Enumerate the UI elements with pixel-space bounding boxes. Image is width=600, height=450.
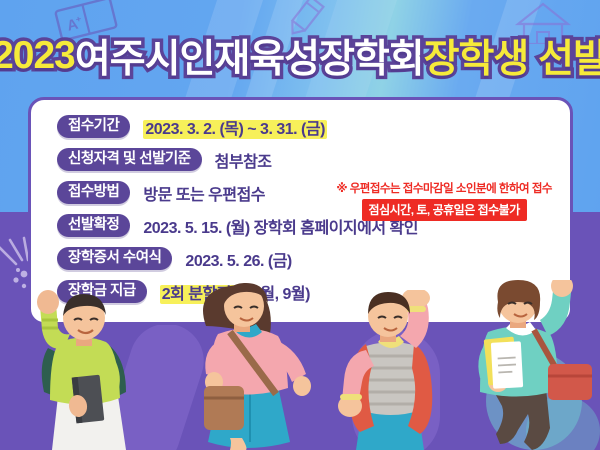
student-girl-mint-sweater xyxy=(448,280,600,450)
scholarship-poster: A + 2023 xyxy=(0,0,600,450)
note-line-1: ※ 우편접수는 접수마감일 소인분에 한하여 접수 xyxy=(336,180,552,196)
table-row: 신청자격 및 선발기준 첨부참조 xyxy=(31,143,570,176)
student-boy-green-sweater xyxy=(14,290,154,450)
table-row: 접수기간 2023. 3. 2. (목) ~ 3. 31. (금) xyxy=(31,110,570,143)
row-label-application-method: 접수방법 xyxy=(57,181,130,205)
row-label-award-ceremony: 장학증서 수여식 xyxy=(57,247,172,271)
table-row: 장학증서 수여식 2023. 5. 26. (금) xyxy=(31,242,570,275)
student-girl-pink-cardigan xyxy=(168,282,318,450)
title-part-year: 2023 xyxy=(0,34,75,78)
row-label-selection-confirmation: 선발확정 xyxy=(57,214,130,238)
page-title: 2023 여주시인재육성장학회 장학생 선발 xyxy=(0,28,600,84)
title-part-subject: 장학생 선발 xyxy=(424,28,600,84)
title-part-organization: 여주시인재육성장학회 xyxy=(75,28,424,84)
row-value-award-ceremony: 2023. 5. 26. (금) xyxy=(185,247,291,271)
svg-text:+: + xyxy=(75,14,83,25)
row-label-eligibility: 신청자격 및 선발기준 xyxy=(57,148,202,172)
student-boy-red-jacket xyxy=(310,290,460,450)
mail-application-note: ※ 우편접수는 접수마감일 소인분에 한하여 접수 점심시간, 토, 공휴일은 … xyxy=(336,180,552,221)
note-line-2: 점심시간, 토, 공휴일은 접수불가 xyxy=(362,199,527,221)
row-value-application-period: 2023. 3. 2. (목) ~ 3. 31. (금) xyxy=(143,115,327,139)
row-label-application-period: 접수기간 xyxy=(57,115,130,139)
row-value-application-method: 방문 또는 우편접수 xyxy=(143,181,265,205)
row-value-eligibility: 첨부참조 xyxy=(215,148,272,172)
